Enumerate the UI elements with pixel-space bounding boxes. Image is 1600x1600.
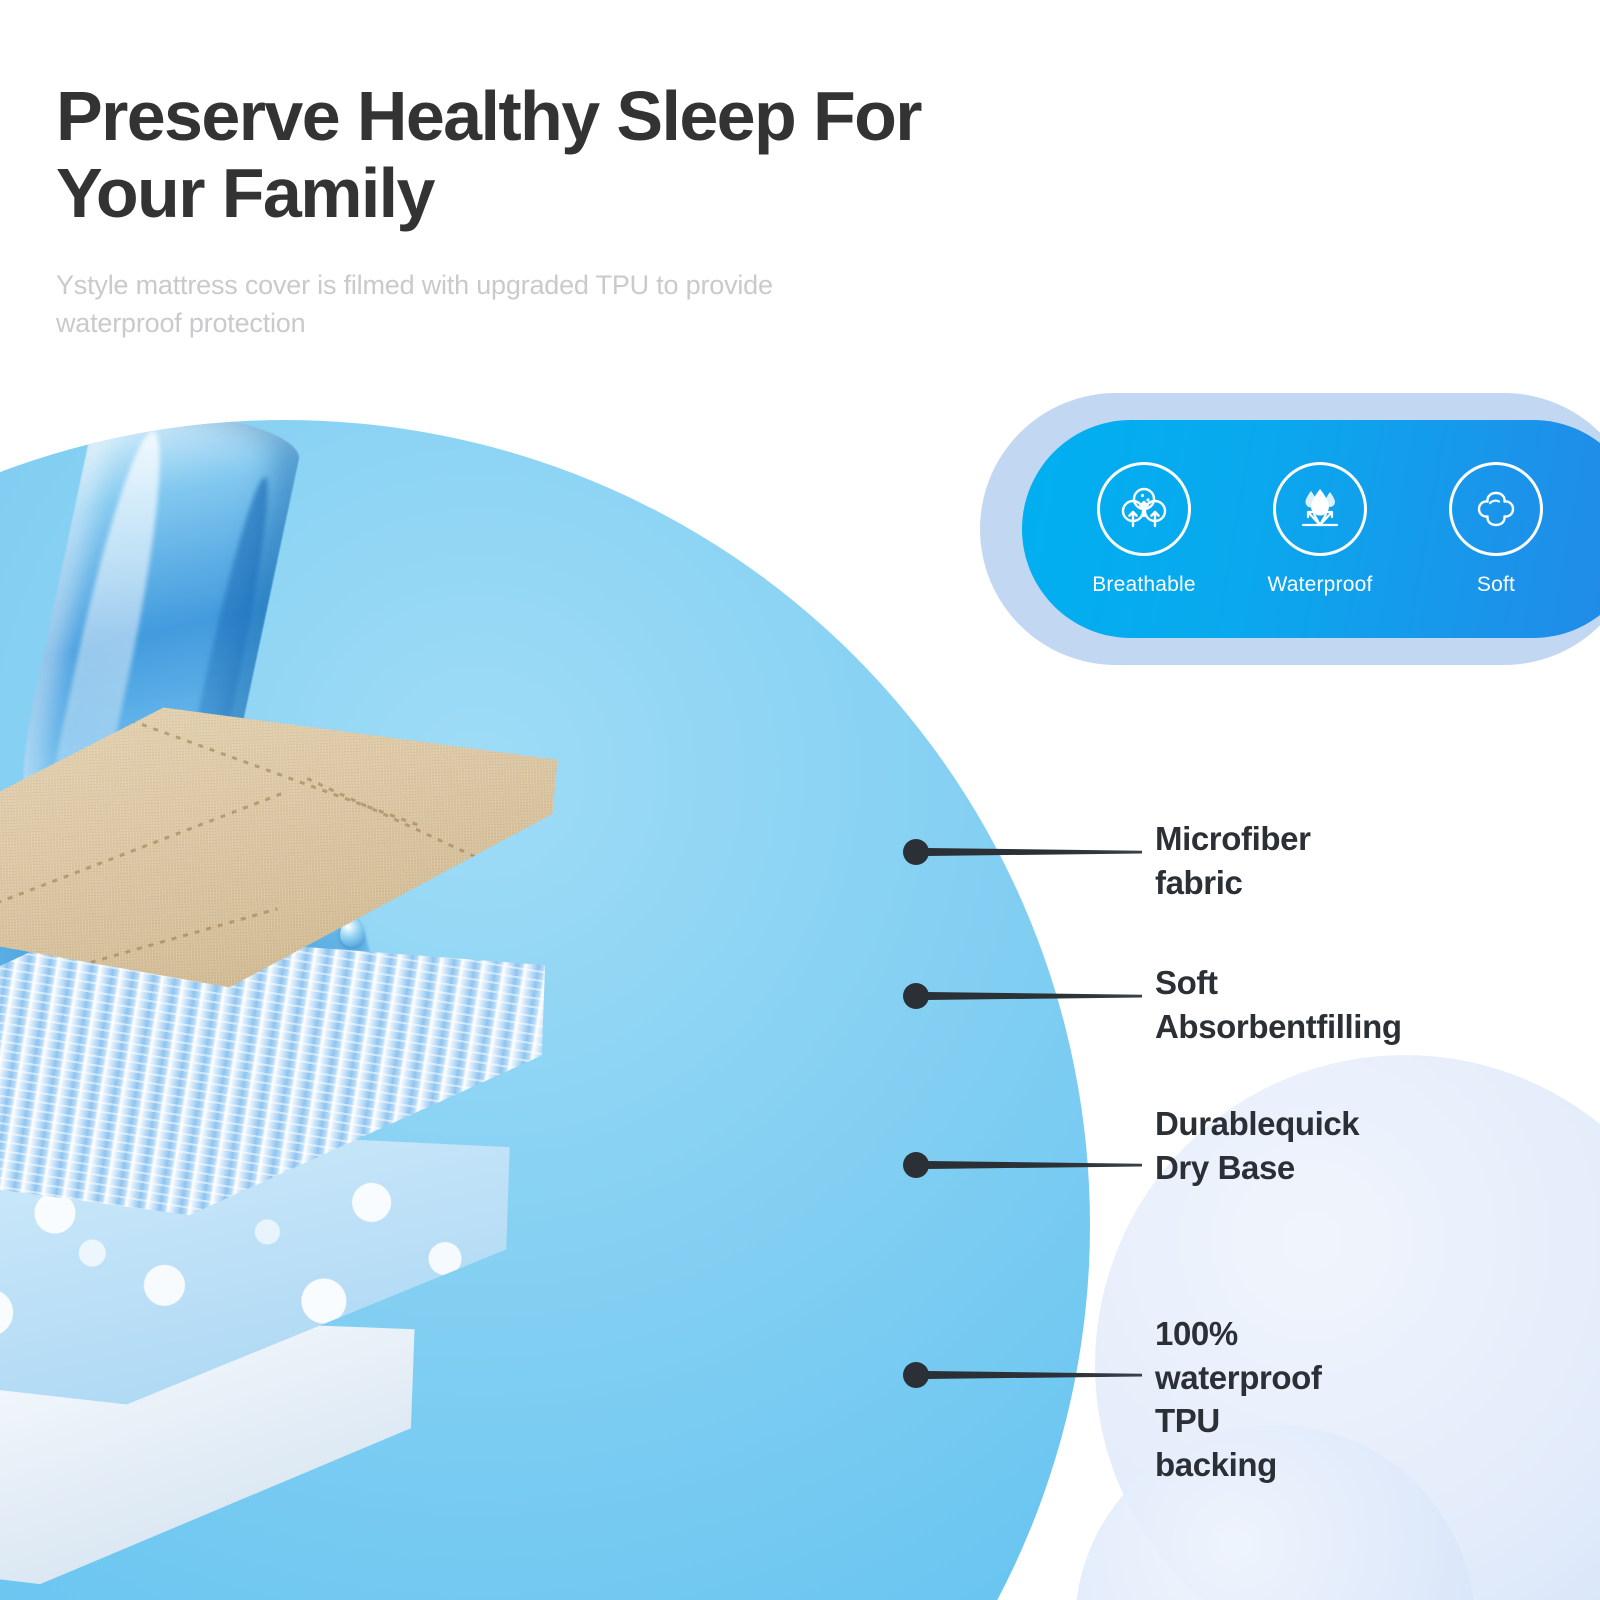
badge-label: Waterproof [1267,573,1372,597]
badge-breathable[interactable]: Breathable [1056,462,1232,597]
waterproof-icon [1273,462,1367,556]
breathable-icon [1097,462,1191,556]
header: Preserve Healthy Sleep For Your Family Y… [56,78,1176,343]
callout-label: Microfiber fabric [1155,817,1311,904]
page-title: Preserve Healthy Sleep For Your Family [56,78,1176,232]
callout-dot [903,983,929,1009]
infographic-root: Preserve Healthy Sleep For Your Family Y… [0,0,1600,1600]
product-photo-circle [0,420,1090,1600]
callout-label: Durablequick Dry Base [1155,1102,1359,1189]
callout-dot [903,839,929,865]
callout-label: 100% waterproof TPU backing [1155,1312,1322,1486]
product-photo [0,420,1090,1600]
microfiber-fabric-layer [0,676,565,1000]
soft-icon [1449,462,1543,556]
stitch-line [307,777,562,898]
callout-label: Soft Absorbentfilling [1155,961,1402,1048]
badge-soft[interactable]: Soft [1408,462,1584,597]
callout-dot [903,1362,929,1388]
stitch-line [0,792,283,930]
callout-dot [903,1152,929,1178]
page-subtitle: Ystyle mattress cover is filmed with upg… [56,266,956,343]
badge-label: Soft [1477,573,1515,597]
badge-label: Breathable [1092,573,1196,597]
feature-badge-panel: Breathable Waterproof [1022,420,1600,638]
badge-waterproof[interactable]: Waterproof [1232,462,1408,597]
